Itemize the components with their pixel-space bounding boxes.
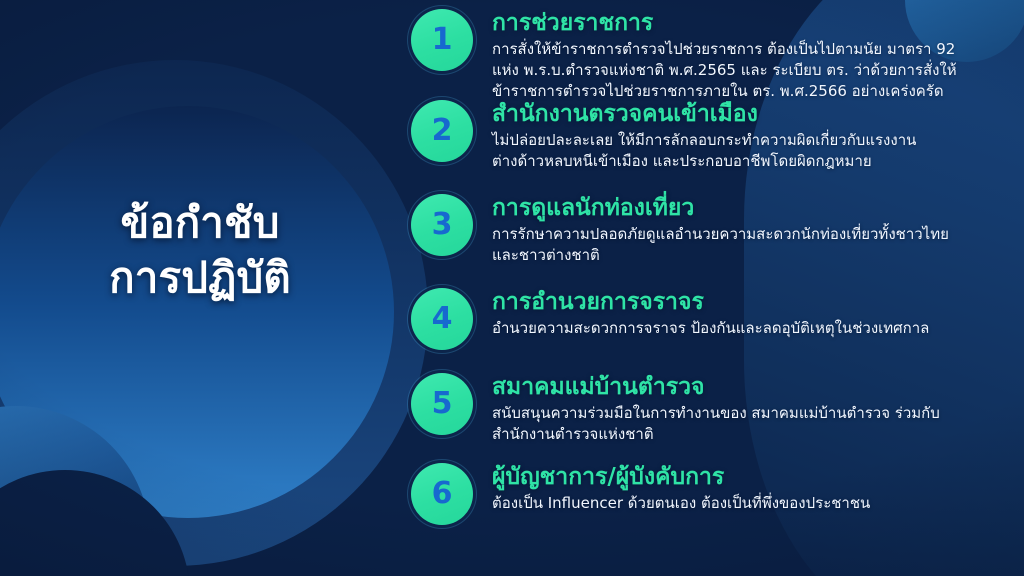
page-title-line-1: ข้อกำชับ xyxy=(0,196,400,251)
badge-wrap: 4 xyxy=(404,288,480,350)
number-badge-4[interactable]: 4 xyxy=(411,288,473,350)
number-badge-6[interactable]: 6 xyxy=(411,463,473,525)
item-body: การรักษาความปลอดภัยดูแลอำนวยความสะดวกนัก… xyxy=(492,224,1024,267)
item-heading: สมาคมแม่บ้านตำรวจ xyxy=(492,374,1024,402)
page-title-line-2: การปฏิบัติ xyxy=(0,251,400,306)
item-body: อำนวยความสะดวกการจราจร ป้องกันและลดอุบัต… xyxy=(492,318,1024,339)
badge-number-label: 2 xyxy=(432,116,453,146)
item-heading: สำนักงานตรวจคนเข้าเมือง xyxy=(492,101,1024,129)
decorative-bottom-left-mask xyxy=(0,470,190,576)
badge-wrap: 2 xyxy=(404,100,480,162)
item-body-line: แห่ง พ.ร.บ.ตำรวจแห่งชาติ พ.ศ.2565 และ ระ… xyxy=(492,60,1024,81)
item-text-block: ผู้บัญชาการ/ผู้บังคับการ ต้องเป็น Influe… xyxy=(480,463,1024,514)
list-item: 1 การช่วยราชการ การสั่งให้ข้าราชการตำรวจ… xyxy=(404,9,1024,102)
number-badge-3[interactable]: 3 xyxy=(411,194,473,256)
badge-number-label: 1 xyxy=(432,25,453,55)
badge-number-label: 4 xyxy=(432,304,453,334)
number-badge-2[interactable]: 2 xyxy=(411,100,473,162)
item-body-line: การสั่งให้ข้าราชการตำรวจไปช่วยราชการ ต้อ… xyxy=(492,39,1024,60)
item-text-block: การอำนวยการจราจร อำนวยความสะดวกการจราจร … xyxy=(480,288,1024,339)
item-body-line: และชาวต่างชาติ xyxy=(492,245,1024,266)
item-text-block: สมาคมแม่บ้านตำรวจ สนับสนุนความร่วมมือในก… xyxy=(480,373,1024,445)
item-body-line: อำนวยความสะดวกการจราจร ป้องกันและลดอุบัต… xyxy=(492,318,1024,339)
item-heading: ผู้บัญชาการ/ผู้บังคับการ xyxy=(492,464,1024,492)
badge-number-label: 6 xyxy=(432,479,453,509)
badge-wrap: 5 xyxy=(404,373,480,435)
numbered-list: 1 การช่วยราชการ การสั่งให้ข้าราชการตำรวจ… xyxy=(404,0,1024,576)
list-item: 3 การดูแลนักท่องเที่ยว การรักษาความปลอดภ… xyxy=(404,194,1024,266)
list-item: 2 สำนักงานตรวจคนเข้าเมือง ไม่ปล่อยปละละเ… xyxy=(404,100,1024,172)
badge-wrap: 3 xyxy=(404,194,480,256)
badge-wrap: 6 xyxy=(404,463,480,525)
badge-wrap: 1 xyxy=(404,9,480,71)
item-body: สนับสนุนความร่วมมือในการทำงานของ สมาคมแม… xyxy=(492,403,1024,446)
item-text-block: สำนักงานตรวจคนเข้าเมือง ไม่ปล่อยปละละเลย… xyxy=(480,100,1024,172)
item-heading: การช่วยราชการ xyxy=(492,10,1024,38)
number-badge-1[interactable]: 1 xyxy=(411,9,473,71)
list-item: 5 สมาคมแม่บ้านตำรวจ สนับสนุนความร่วมมือใ… xyxy=(404,373,1024,445)
page-title: ข้อกำชับ การปฏิบัติ xyxy=(0,196,400,305)
item-body: ต้องเป็น Influencer ด้วยตนเอง ต้องเป็นที… xyxy=(492,493,1024,514)
badge-number-label: 5 xyxy=(432,389,453,419)
slide-root: ข้อกำชับ การปฏิบัติ 1 การช่วยราชการ การส… xyxy=(0,0,1024,576)
item-body-line: ไม่ปล่อยปละละเลย ให้มีการลักลอบกระทำความ… xyxy=(492,130,1024,151)
item-body-line: สำนักงานตำรวจแห่งชาติ xyxy=(492,424,1024,445)
item-body-line: การรักษาความปลอดภัยดูแลอำนวยความสะดวกนัก… xyxy=(492,224,1024,245)
item-body: ไม่ปล่อยปละละเลย ให้มีการลักลอบกระทำความ… xyxy=(492,130,1024,173)
number-badge-5[interactable]: 5 xyxy=(411,373,473,435)
decorative-bottom-left-blob xyxy=(0,406,150,576)
item-body-line: สนับสนุนความร่วมมือในการทำงานของ สมาคมแม… xyxy=(492,403,1024,424)
item-body-line: ต่างด้าวหลบหนีเข้าเมือง และประกอบอาชีพโด… xyxy=(492,151,1024,172)
item-heading: การดูแลนักท่องเที่ยว xyxy=(492,195,1024,223)
item-body-line: ต้องเป็น Influencer ด้วยตนเอง ต้องเป็นที… xyxy=(492,493,1024,514)
badge-number-label: 3 xyxy=(432,210,453,240)
item-body: การสั่งให้ข้าราชการตำรวจไปช่วยราชการ ต้อ… xyxy=(492,39,1024,103)
list-item: 4 การอำนวยการจราจร อำนวยความสะดวกการจราจ… xyxy=(404,288,1024,350)
list-item: 6 ผู้บัญชาการ/ผู้บังคับการ ต้องเป็น Infl… xyxy=(404,463,1024,525)
decorative-outer-ring xyxy=(0,60,428,566)
item-text-block: การช่วยราชการ การสั่งให้ข้าราชการตำรวจไป… xyxy=(480,9,1024,102)
decorative-title-circle xyxy=(0,106,394,518)
item-text-block: การดูแลนักท่องเที่ยว การรักษาความปลอดภัย… xyxy=(480,194,1024,266)
item-heading: การอำนวยการจราจร xyxy=(492,289,1024,317)
